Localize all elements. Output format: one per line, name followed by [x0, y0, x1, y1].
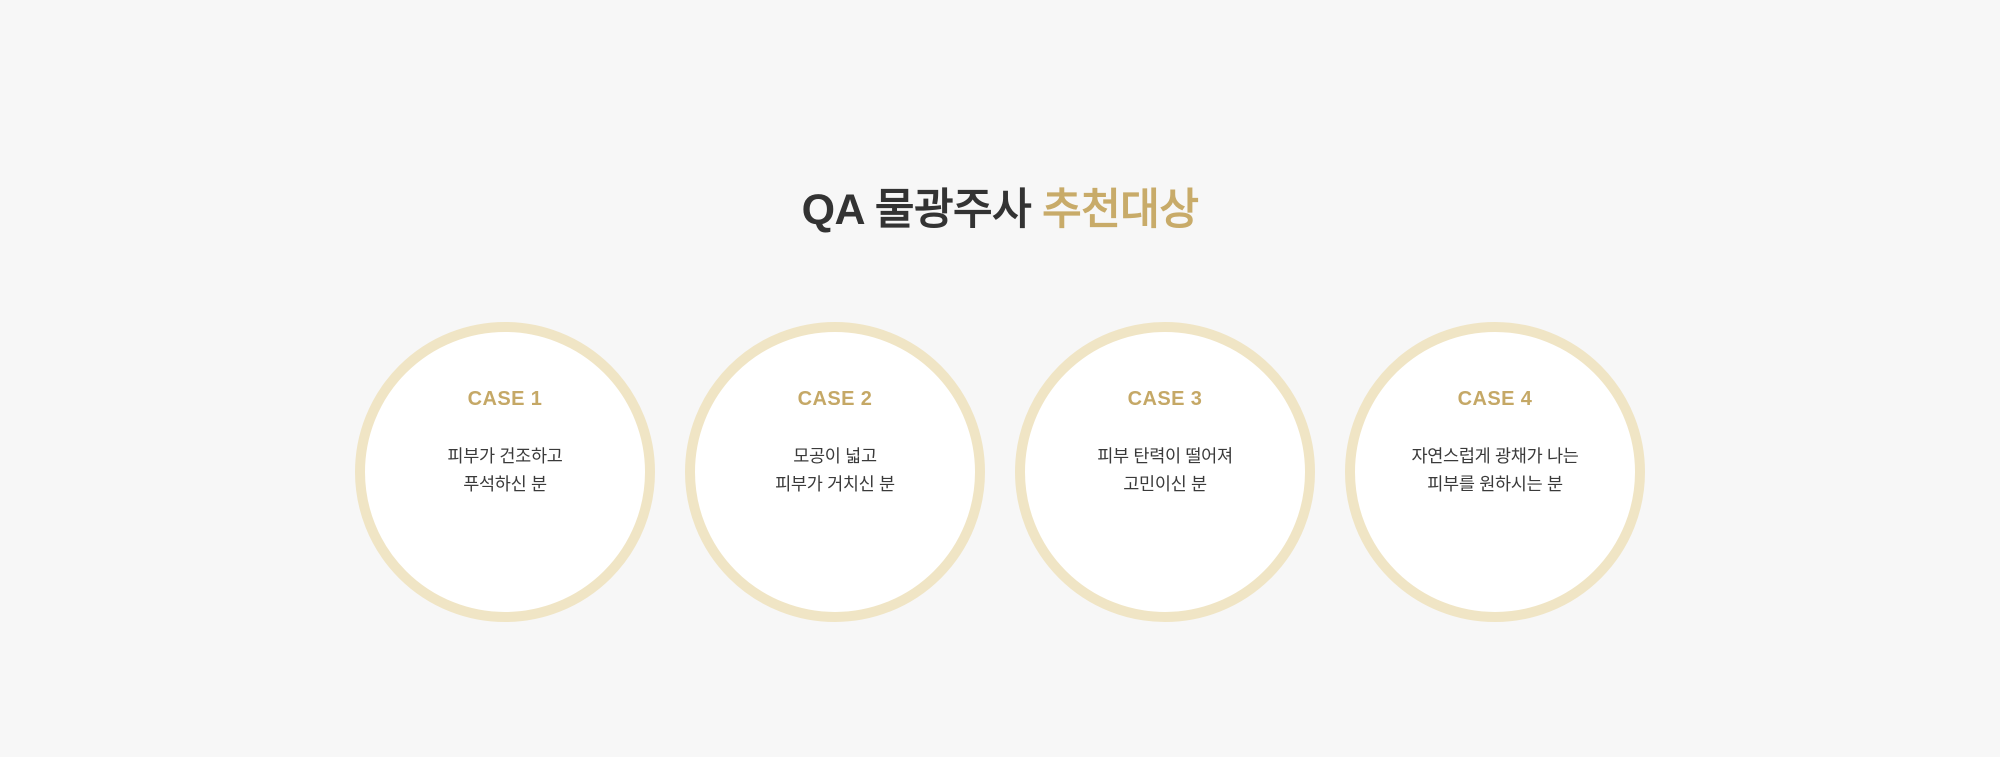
case-label-3: CASE 3 — [1128, 389, 1203, 409]
case-circle-3: CASE 3 피부 탄력이 떨어져 고민이신 분 — [1015, 322, 1315, 622]
case-description-3-line-2: 고민이신 분 — [1097, 470, 1233, 498]
case-description-2: 모공이 넓고 피부가 거치신 분 — [775, 442, 895, 499]
case-description-4-line-1: 자연스럽게 광채가 나는 — [1411, 442, 1578, 470]
recommendation-section: QA 물광주사추천대상 CASE 1 피부가 건조하고 푸석하신 분 CASE … — [0, 0, 2000, 757]
case-description-4-line-2: 피부를 원하시는 분 — [1411, 470, 1578, 498]
case-label-1: CASE 1 — [468, 389, 543, 409]
page-title-accent: 추천대상 — [1042, 186, 1198, 234]
case-description-4: 자연스럽게 광채가 나는 피부를 원하시는 분 — [1411, 442, 1578, 499]
case-description-1-line-2: 푸석하신 분 — [447, 470, 562, 498]
case-label-2: CASE 2 — [798, 389, 873, 409]
case-description-1-line-1: 피부가 건조하고 — [447, 442, 562, 470]
case-description-3-line-1: 피부 탄력이 떨어져 — [1097, 442, 1233, 470]
case-circle-2: CASE 2 모공이 넓고 피부가 거치신 분 — [685, 322, 985, 622]
case-label-4: CASE 4 — [1458, 389, 1533, 409]
case-circle-1: CASE 1 피부가 건조하고 푸석하신 분 — [355, 322, 655, 622]
section-heading-wrapper: QA 물광주사추천대상 — [0, 150, 2000, 271]
case-description-3: 피부 탄력이 떨어져 고민이신 분 — [1097, 442, 1233, 499]
case-description-1: 피부가 건조하고 푸석하신 분 — [447, 442, 562, 499]
case-circle-4: CASE 4 자연스럽게 광채가 나는 피부를 원하시는 분 — [1345, 322, 1645, 622]
case-description-2-line-2: 피부가 거치신 분 — [775, 470, 895, 498]
case-circle-row: CASE 1 피부가 건조하고 푸석하신 분 CASE 2 모공이 넓고 피부가… — [0, 322, 2000, 622]
page-title: QA 물광주사추천대상 — [802, 186, 1199, 235]
case-description-2-line-1: 모공이 넓고 — [775, 442, 895, 470]
page-title-primary: QA 물광주사 — [802, 186, 1032, 234]
